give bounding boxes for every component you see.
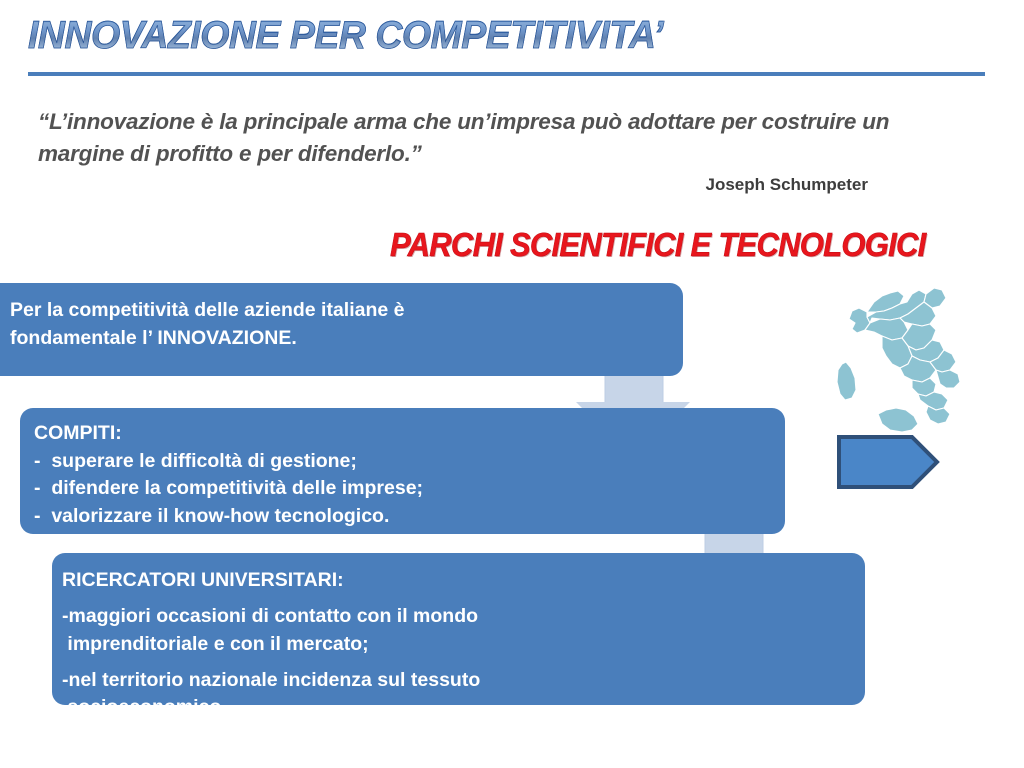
section-heading-parchi: PARCHI SCIENTIFICI E TECNOLOGICI (390, 226, 925, 264)
quote-text: “L’innovazione è la principale arma che … (38, 106, 928, 170)
box-3-paragraph-2: -nel territorio nazionale incidenza sul … (62, 667, 847, 722)
callout-box-innovazione: Per la competitività delle aziende itali… (0, 283, 683, 376)
quote-attribution: Joseph Schumpeter (38, 175, 868, 195)
callout-box-ricercatori: RICERCATORI UNIVERSITARI: -maggiori occa… (52, 553, 865, 705)
callout-box-compiti: COMPITI: - superare le difficoltà di ges… (20, 408, 785, 534)
italy-map-icon (812, 278, 977, 438)
list-item: - valorizzare il know-how tecnologico. (34, 503, 767, 531)
right-arrow-shape (836, 434, 940, 490)
page-title: INNOVAZIONE PER COMPETITIVITA’ (28, 14, 663, 58)
title-divider (28, 72, 985, 76)
box-3-paragraph-1: -maggiori occasioni di contatto con il m… (62, 603, 847, 658)
box-3-heading: RICERCATORI UNIVERSITARI: (62, 567, 847, 594)
right-arrow-polygon (839, 437, 937, 487)
box-2-heading: COMPITI: (34, 420, 767, 448)
list-item: - superare le difficoltà di gestione; (34, 448, 767, 476)
slide-canvas: INNOVAZIONE PER COMPETITIVITA’ “L’innova… (0, 0, 1024, 768)
box-2-list: - superare le difficoltà di gestione; - … (34, 448, 767, 531)
list-item: - difendere la competitività delle impre… (34, 475, 767, 503)
box-1-line-1: Per la competitività delle aziende itali… (10, 297, 665, 325)
box-1-line-2: fondamentale l’ INNOVAZIONE. (10, 325, 665, 353)
italy-regions (837, 288, 960, 432)
